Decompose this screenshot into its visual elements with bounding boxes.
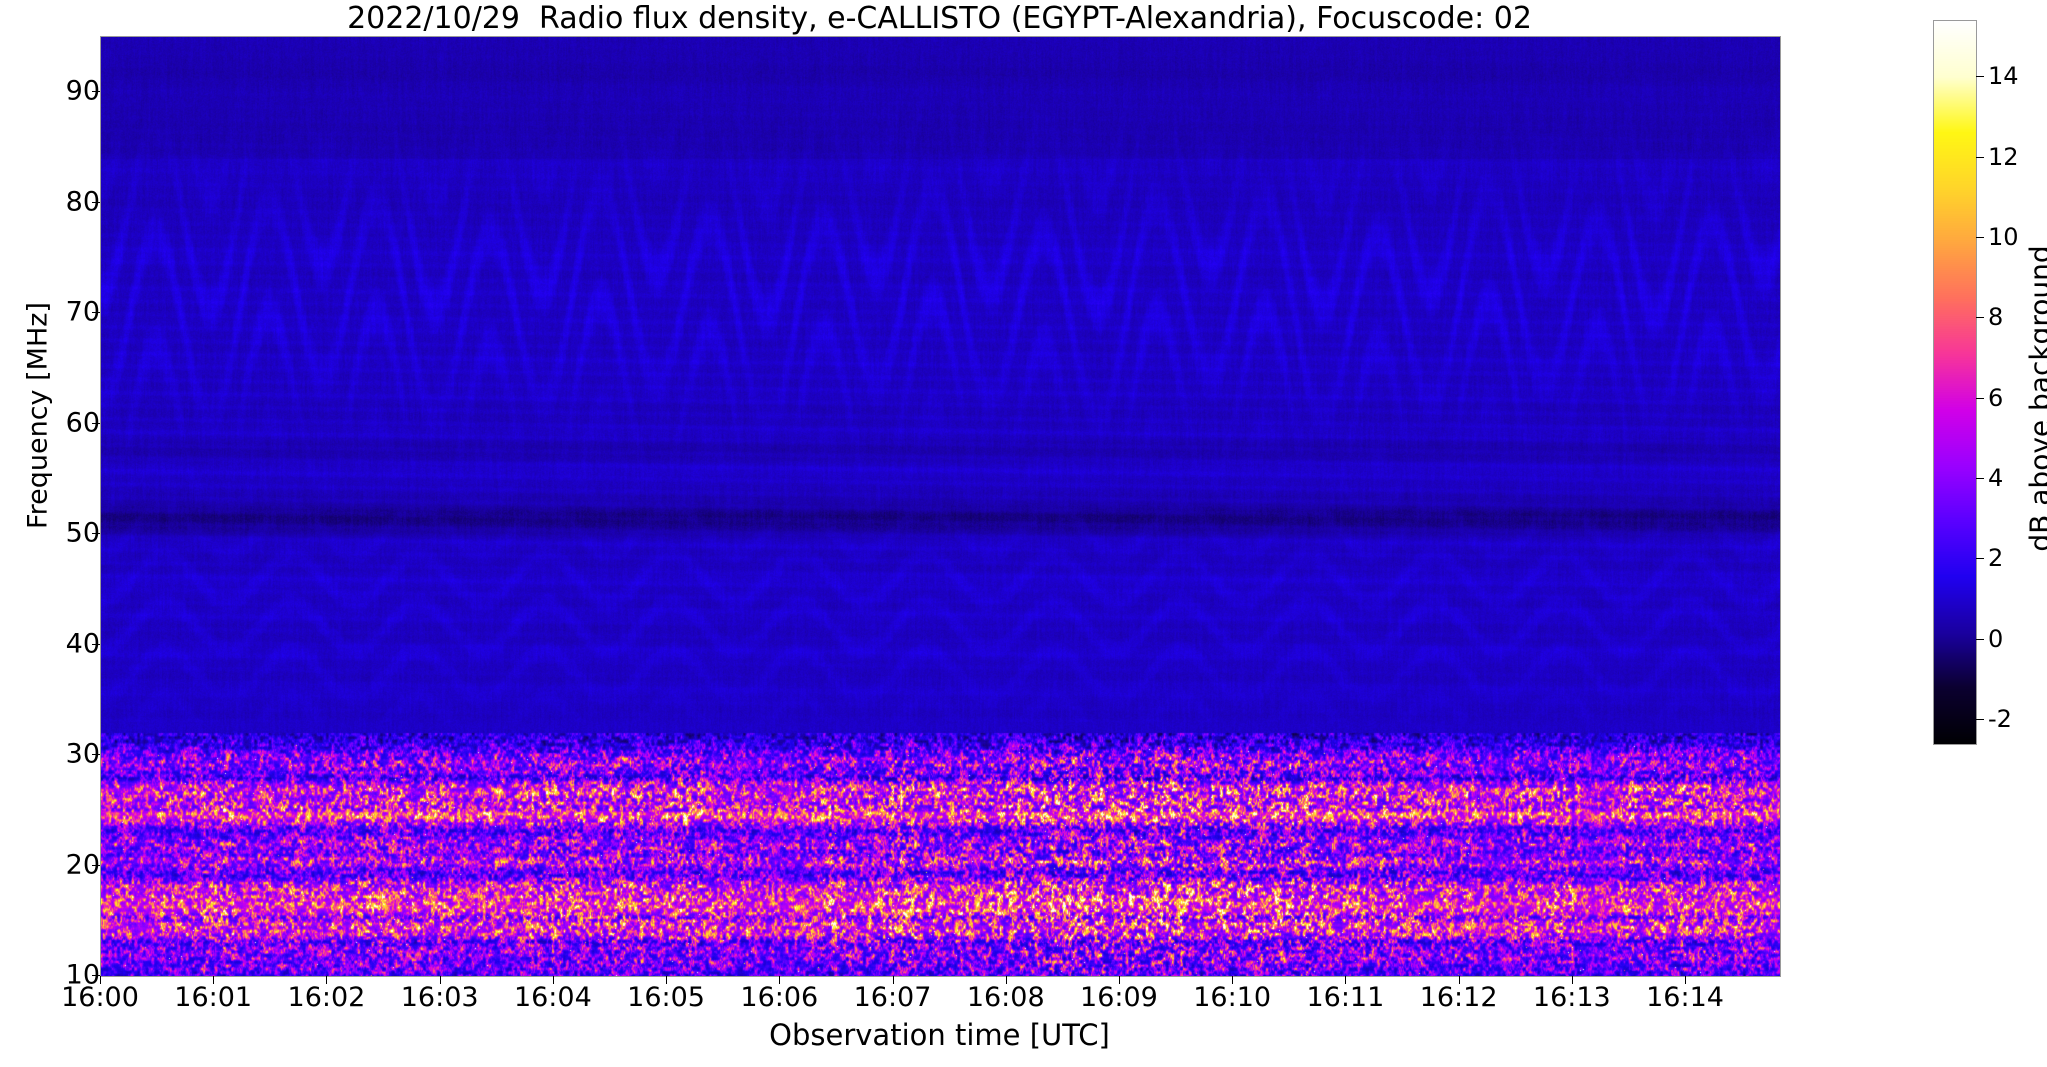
x-tick-label: 16:11 [1306, 982, 1384, 1013]
colorbar-label: dB above background [2024, 149, 2047, 649]
x-axis-label: Observation time [UTC] [100, 1018, 1779, 1052]
y-tick-mark [92, 865, 100, 866]
y-tick-mark [92, 644, 100, 645]
colorbar-tick-mark [1976, 317, 1984, 318]
x-tick-mark [893, 976, 894, 984]
y-tick-mark [92, 202, 100, 203]
y-tick-mark [92, 423, 100, 424]
x-tick-mark [1345, 976, 1346, 984]
x-tick-label: 16:12 [1420, 982, 1498, 1013]
x-tick-label: 16:10 [1193, 982, 1271, 1013]
y-tick-mark [92, 754, 100, 755]
x-tick-mark [779, 976, 780, 984]
colorbar-tick-mark [1976, 157, 1984, 158]
spectrogram-figure: 2022/10/29 Radio flux density, e-CALLIST… [0, 0, 2047, 1067]
x-tick-label: 16:08 [967, 982, 1045, 1013]
x-tick-label: 16:09 [1080, 982, 1158, 1013]
colorbar-tick-mark [1976, 719, 1984, 720]
x-tick-label: 16:01 [174, 982, 252, 1013]
colorbar-tick-label: 14 [1988, 62, 2019, 90]
colorbar-tick-label: 8 [1988, 303, 2003, 331]
x-tick-mark [440, 976, 441, 984]
x-tick-label: 16:06 [740, 982, 818, 1013]
x-tick-label: 16:13 [1533, 982, 1611, 1013]
x-tick-mark [1459, 976, 1460, 984]
colorbar-tick-label: 6 [1988, 384, 2003, 412]
x-tick-mark [213, 976, 214, 984]
colorbar-tick-label: 2 [1988, 544, 2003, 572]
y-tick-mark [92, 91, 100, 92]
colorbar-tick-mark [1976, 76, 1984, 77]
x-tick-mark [100, 976, 101, 984]
y-tick-mark [92, 312, 100, 313]
colorbar-tick-mark [1976, 558, 1984, 559]
x-tick-label: 16:05 [627, 982, 705, 1013]
y-tick-mark [92, 533, 100, 534]
colorbar-gradient [1934, 21, 1976, 744]
x-tick-mark [1572, 976, 1573, 984]
colorbar[interactable] [1933, 20, 1977, 745]
colorbar-tick-label: 10 [1988, 223, 2019, 251]
x-tick-label: 16:14 [1646, 982, 1724, 1013]
x-tick-mark [553, 976, 554, 984]
colorbar-tick-label: 4 [1988, 464, 2003, 492]
colorbar-tick-mark [1976, 398, 1984, 399]
page-title: 2022/10/29 Radio flux density, e-CALLIST… [100, 2, 1779, 36]
x-tick-mark [666, 976, 667, 984]
colorbar-tick-label: 12 [1988, 143, 2019, 171]
x-tick-label: 16:07 [854, 982, 932, 1013]
x-tick-label: 16:03 [401, 982, 479, 1013]
x-tick-mark [1119, 976, 1120, 984]
colorbar-tick-label: 0 [1988, 625, 2003, 653]
x-tick-label: 16:04 [514, 982, 592, 1013]
colorbar-tick-mark [1976, 237, 1984, 238]
colorbar-tick-mark [1976, 639, 1984, 640]
colorbar-tick-label: -2 [1988, 705, 2012, 733]
y-axis-label: Frequency [MHz] [23, 166, 54, 666]
x-tick-mark [1685, 976, 1686, 984]
x-tick-mark [326, 976, 327, 984]
y-tick-mark [92, 975, 100, 976]
x-tick-label: 16:02 [288, 982, 366, 1013]
colorbar-tick-mark [1976, 478, 1984, 479]
plot-axes[interactable] [100, 36, 1781, 977]
x-tick-mark [1006, 976, 1007, 984]
x-tick-label: 16:00 [61, 982, 139, 1013]
x-tick-mark [1232, 976, 1233, 984]
spectrogram-image[interactable] [101, 37, 1780, 976]
